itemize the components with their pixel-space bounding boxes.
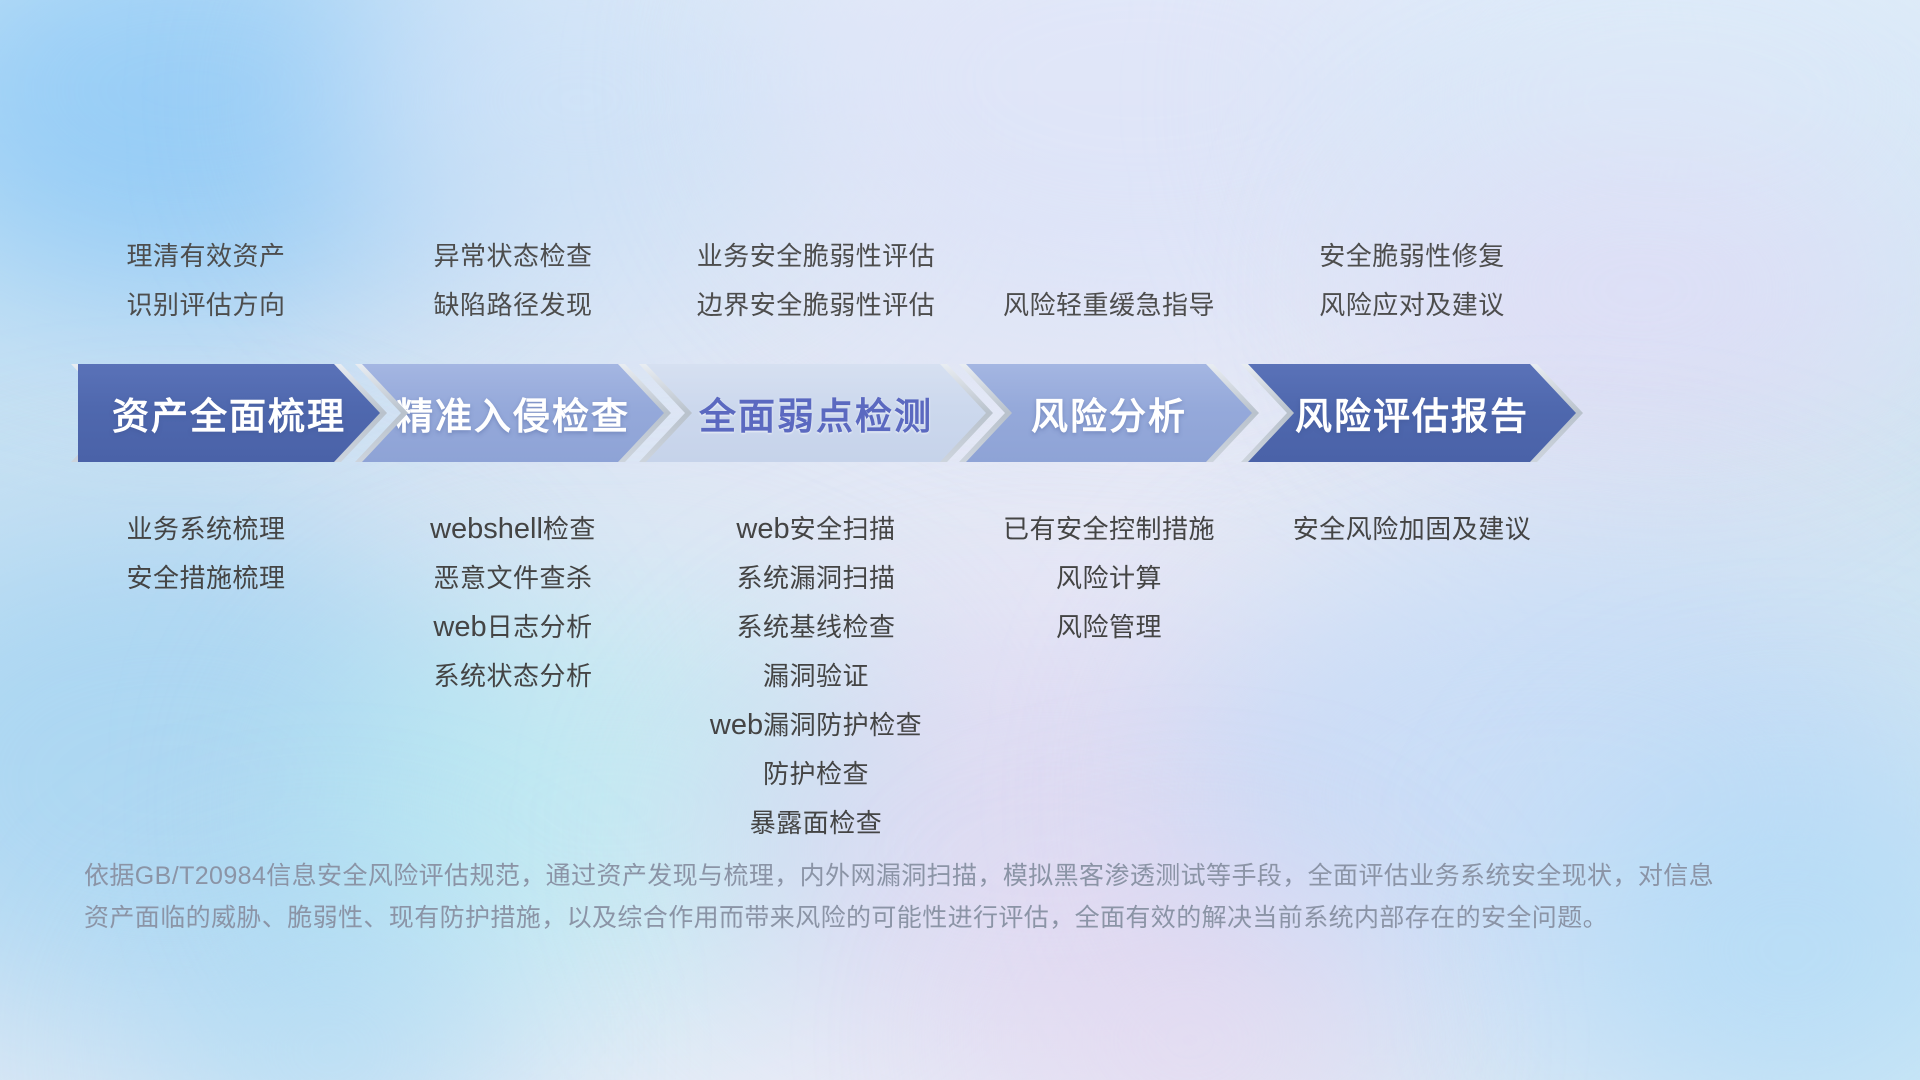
footer-description: 依据GB/T20984信息安全风险评估规范，通过资产发现与梳理，内外网漏洞扫描，… <box>84 855 1784 939</box>
step-input-list: 安全脆弱性修复风险应对及建议 <box>1112 232 1712 330</box>
process-step-label: 精准入侵检查 <box>396 386 630 440</box>
process-step-label: 资产全面梳理 <box>112 386 346 440</box>
process-diagram: 理清有效资产识别评估方向异常状态检查缺陷路径发现业务安全脆弱性评估边界安全脆弱性… <box>0 0 1920 1080</box>
step-input-item: 安全脆弱性修复 <box>1112 232 1712 281</box>
footer-line-2: 资产面临的威胁、脆弱性、现有防护措施，以及综合作用而带来风险的可能性进行评估，全… <box>84 897 1784 939</box>
process-step-3[interactable]: 全面弱点检测 <box>646 364 986 462</box>
step-output-list: 安全风险加固及建议 <box>1112 505 1712 554</box>
step-input-item: 风险应对及建议 <box>1112 281 1712 330</box>
step-output-item: 漏洞验证 <box>516 652 1116 701</box>
footer-line-1: 依据GB/T20984信息安全风险评估规范，通过资产发现与梳理，内外网漏洞扫描，… <box>84 855 1784 897</box>
process-step-band: 资产全面梳理精准入侵检查全面弱点检测风险分析风险评估报告 <box>0 364 1920 462</box>
step-output-item: 防护检查 <box>516 750 1116 799</box>
step-output-item: 风险管理 <box>809 603 1409 652</box>
process-step-label: 风险评估报告 <box>1295 386 1529 440</box>
step-output-item: web漏洞防护检查 <box>516 701 1116 750</box>
process-step-label: 风险分析 <box>1031 386 1187 440</box>
step-output-item: 安全风险加固及建议 <box>1112 505 1712 554</box>
process-step-label: 全面弱点检测 <box>699 386 933 440</box>
step-output-item: 风险计算 <box>809 554 1409 603</box>
step-output-item: 暴露面检查 <box>516 799 1116 848</box>
process-step-1[interactable]: 资产全面梳理 <box>78 364 380 462</box>
step-input-item: 业务安全脆弱性评估 <box>516 232 1116 281</box>
process-step-5[interactable]: 风险评估报告 <box>1248 364 1576 462</box>
